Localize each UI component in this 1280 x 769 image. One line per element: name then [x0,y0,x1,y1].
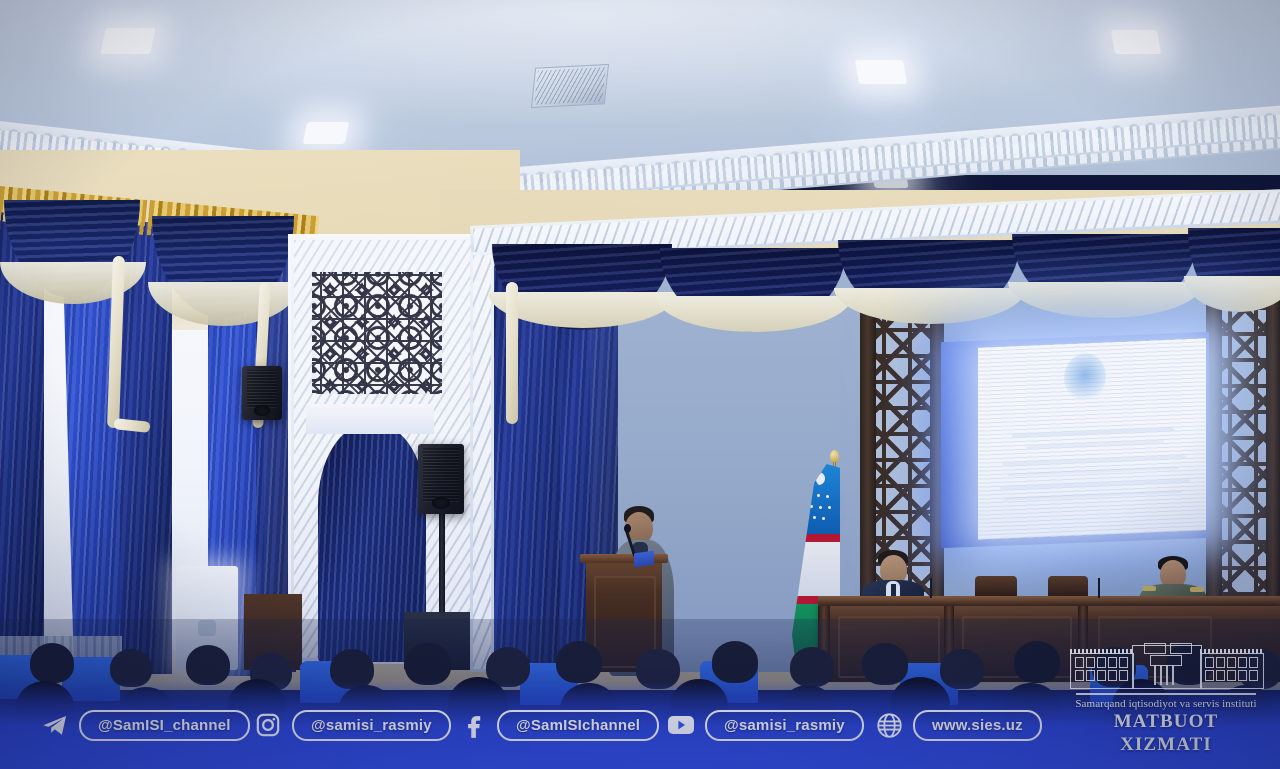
youtube-icon [666,710,696,740]
chair-back [1048,576,1088,598]
ceiling-light [303,122,350,144]
press-service-logo: Samarqand iqtisodiyot va servis institut… [1066,643,1266,757]
arch-spandrel [306,404,434,434]
wall-speaker-icon [242,366,282,420]
audience-head [712,641,758,683]
social-link-instagram[interactable]: @samisi_rasmiy [253,710,451,741]
facebook-icon [458,710,488,740]
ceiling-light [1111,30,1161,54]
projection-screen [978,338,1206,540]
facebook-handle[interactable]: @SamISIchannel [497,710,659,741]
audience-head [30,643,74,683]
uniform-epaulette [1142,586,1156,591]
telegram-handle[interactable]: @SamISI_channel [79,710,250,741]
audience-head [1014,641,1060,683]
social-link-website[interactable]: www.sies.uz [874,710,1042,741]
social-links-row: @SamISI_channel @samisi_rasmiy @SamISIch… [0,707,1060,743]
ceiling-vent [531,64,609,108]
stage-curtain-tail [506,282,518,424]
social-link-youtube[interactable]: @samisi_rasmiy [666,710,864,741]
microphone-head [624,524,631,533]
photo-canvas: @SamISI_channel @samisi_rasmiy @SamISIch… [0,0,1280,769]
audience-head [862,643,908,685]
website-url[interactable]: www.sies.uz [913,710,1042,741]
telegram-icon [40,710,70,740]
audience-head [186,645,230,685]
audience-head [405,643,451,685]
social-link-facebook[interactable]: @SamISIchannel [458,710,659,741]
ceiling-light [855,60,907,84]
institute-building-icon [1070,643,1262,695]
audience-head [556,641,602,683]
social-link-telegram[interactable]: @SamISI_channel [40,710,250,741]
floor-speaker-icon [418,444,464,514]
podium-laptop [634,551,654,568]
table-microphone [930,578,932,598]
chair-back [975,576,1017,598]
press-service-title: MATBUOT XIZMATI [1066,711,1266,757]
table-microphone [1098,578,1100,598]
youtube-handle[interactable]: @samisi_rasmiy [705,710,864,741]
proscenium-left-post [470,252,494,672]
instagram-icon [253,710,283,740]
podium-top-edge [580,554,668,563]
geometric-lattice-panel [312,272,442,394]
instagram-handle[interactable]: @samisi_rasmiy [292,710,451,741]
institute-name: Samarqand iqtisodiyot va servis institut… [1066,698,1266,712]
ceiling-light [100,28,156,54]
globe-www-icon [874,710,904,740]
uniform-epaulette [1190,587,1204,592]
